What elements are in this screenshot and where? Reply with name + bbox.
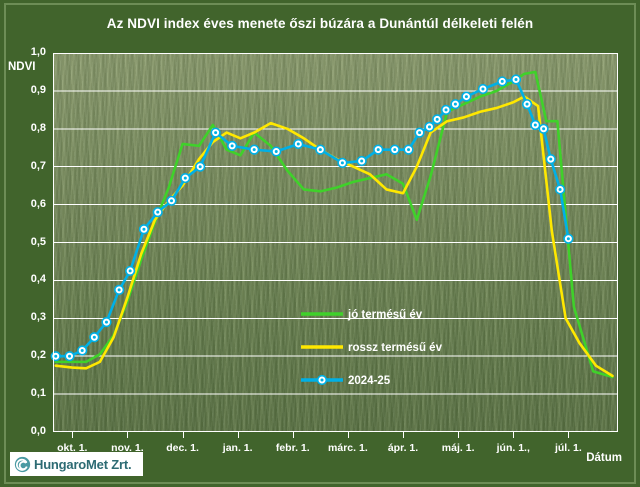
y-tick-label: 0,3 xyxy=(2,311,46,323)
legend-label: 2024-25 xyxy=(348,375,391,387)
y-tick-label: 1,0 xyxy=(2,46,46,58)
y-tick-label: 0,1 xyxy=(2,387,46,399)
x-tick-mark xyxy=(403,432,404,438)
legend-item-0[interactable]: jó termésű év xyxy=(301,309,423,321)
chart-screenshot: Az NDVI index éves menete őszi búzára a … xyxy=(0,0,640,487)
y-tick-label: 0,6 xyxy=(2,198,46,210)
y-tick-label: 0,9 xyxy=(2,84,46,96)
x-tick-label: júl. 1. xyxy=(555,442,582,454)
plot-area: jó termésű évrossz termésű év2024-25 xyxy=(53,53,618,432)
legend-item-1[interactable]: rossz termésű év xyxy=(301,342,443,354)
x-tick-label: jan. 1. xyxy=(223,442,253,454)
x-axis-title: Dátum xyxy=(586,452,622,464)
y-axis-title: NDVI xyxy=(8,61,35,73)
y-tick-label: 0,0 xyxy=(2,425,46,437)
x-tick-label: máj. 1. xyxy=(442,442,475,454)
y-tick-label: 0,8 xyxy=(2,122,46,134)
y-tick-label: 0,5 xyxy=(2,236,46,248)
legend-label: jó termésű év xyxy=(347,309,423,321)
x-tick-mark xyxy=(238,432,239,438)
x-tick-label: jún. 1., xyxy=(497,442,530,454)
x-tick-mark xyxy=(568,432,569,438)
y-tick-label: 0,2 xyxy=(2,349,46,361)
hungaromet-logo: HungaroMet Zrt. xyxy=(10,452,143,476)
x-tick-mark xyxy=(458,432,459,438)
x-tick-mark xyxy=(72,432,73,438)
legend-label: rossz termésű év xyxy=(348,342,443,354)
x-tick-mark xyxy=(513,432,514,438)
x-tick-label: dec. 1. xyxy=(166,442,199,454)
chart-legend: jó termésű évrossz termésű év2024-25 xyxy=(53,53,618,432)
x-tick-mark xyxy=(127,432,128,438)
x-tick-mark xyxy=(348,432,349,438)
page-title: Az NDVI index éves menete őszi búzára a … xyxy=(0,16,640,31)
y-tick-label: 0,7 xyxy=(2,160,46,172)
x-tick-mark xyxy=(183,432,184,438)
x-tick-mark xyxy=(293,432,294,438)
x-tick-label: márc. 1. xyxy=(328,442,368,454)
y-tick-label: 0,4 xyxy=(2,273,46,285)
x-tick-label: febr. 1. xyxy=(276,442,310,454)
spiral-icon xyxy=(14,456,31,473)
x-tick-label: ápr. 1. xyxy=(388,442,418,454)
logo-text: HungaroMet Zrt. xyxy=(34,457,131,472)
legend-item-2[interactable]: 2024-25 xyxy=(301,375,391,387)
